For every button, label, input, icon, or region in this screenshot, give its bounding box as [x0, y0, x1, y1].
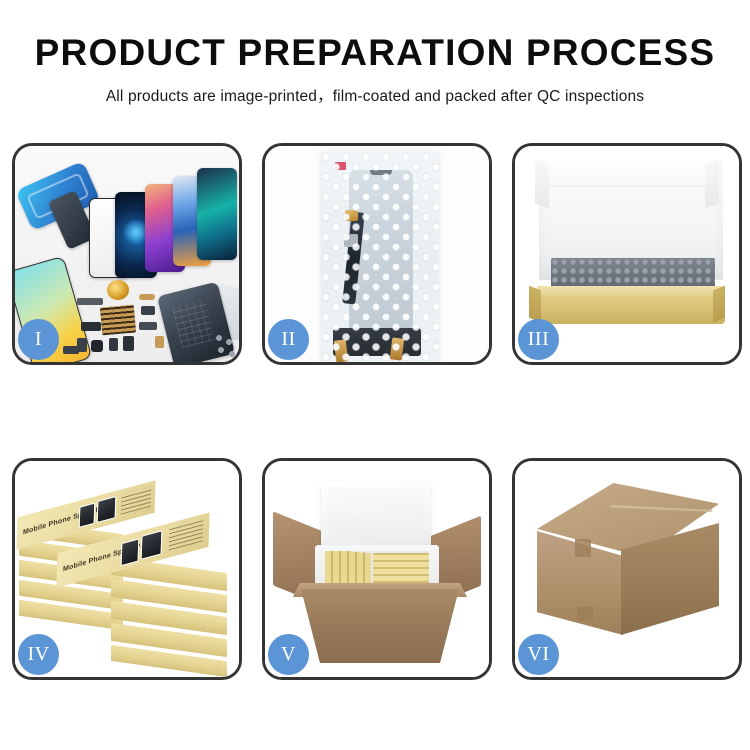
- box-flap-right-graphic: [705, 160, 719, 208]
- box-tray-front-graphic: [537, 286, 725, 296]
- step-badge-1: I: [18, 319, 59, 360]
- step-badge-2: II: [268, 319, 309, 360]
- carton-handle-notch-graphic: [575, 539, 591, 557]
- screws-graphic: [215, 334, 237, 360]
- process-steps-grid: I II: [12, 143, 742, 680]
- page-subtitle: All products are image-printed，film-coat…: [0, 84, 750, 106]
- step-panel-5[interactable]: V: [262, 458, 492, 680]
- step-panel-3[interactable]: III: [512, 143, 742, 365]
- step-badge-3: III: [518, 319, 559, 360]
- carton-body-graphic: [301, 589, 459, 663]
- step-panel-1[interactable]: I: [12, 143, 242, 365]
- part-graphic: [141, 306, 155, 315]
- part-graphic: [91, 340, 103, 352]
- chip-array-graphic: [100, 305, 136, 336]
- bubble-texture-overlay: [321, 152, 439, 362]
- step-badge-4: IV: [18, 634, 59, 675]
- box-tray-side-left-graphic: [529, 286, 541, 323]
- carton-handle-notch-graphic: [577, 607, 593, 621]
- part-graphic: [139, 322, 157, 330]
- part-graphic: [81, 322, 101, 331]
- page-header: PRODUCT PREPARATION PROCESS All products…: [0, 0, 750, 106]
- part-graphic: [155, 336, 164, 348]
- box-flap-left-graphic: [535, 160, 549, 208]
- foam-lid-graphic: [321, 481, 431, 549]
- part-graphic: [109, 338, 118, 351]
- part-graphic: [77, 298, 103, 305]
- step-badge-5: V: [268, 634, 309, 675]
- step-panel-4[interactable]: Mobile Phone Spare Parts Mobile Phone Sp…: [12, 458, 242, 680]
- phone-teal-screen-graphic: [197, 168, 237, 260]
- speaker-module-graphic: [107, 280, 129, 300]
- box-tray-side-right-graphic: [713, 286, 725, 323]
- bubble-wrap-bag-graphic: [321, 152, 439, 362]
- part-graphic: [139, 294, 155, 300]
- part-graphic: [123, 336, 134, 351]
- page-title: PRODUCT PREPARATION PROCESS: [0, 34, 750, 73]
- part-graphic: [63, 346, 79, 354]
- step-badge-6: VI: [518, 634, 559, 675]
- step-panel-6[interactable]: VI: [512, 458, 742, 680]
- step-panel-2[interactable]: II: [262, 143, 492, 365]
